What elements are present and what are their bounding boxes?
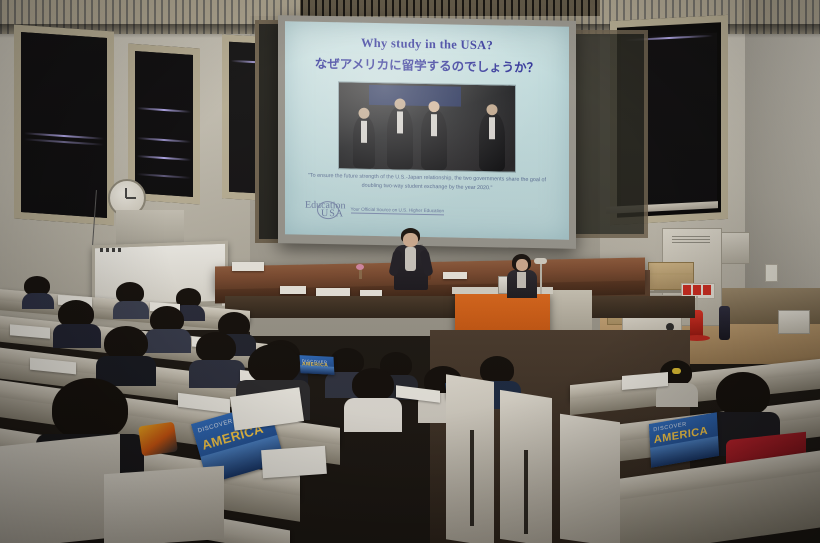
presenter-seated (505, 254, 539, 296)
whiteboard-magnets (100, 248, 124, 252)
logo-brand: Education (305, 200, 346, 212)
slide-title-english: Why study in the USA? (285, 34, 569, 54)
student (116, 282, 146, 312)
student (150, 306, 186, 344)
photo-banner (369, 85, 461, 107)
photo-person-3 (421, 110, 447, 170)
logo-brand-usa: USA (321, 208, 346, 219)
desk-end-panel (560, 414, 620, 543)
student (352, 368, 396, 420)
student (58, 300, 96, 340)
right-wall-corner (745, 0, 820, 330)
presenter-standing (391, 228, 431, 290)
desk-end-panel (0, 434, 120, 543)
photo-person-1 (353, 117, 375, 169)
student (104, 326, 150, 376)
slide-title-japanese: なぜアメリカに留学するのでしょうか？ (285, 52, 569, 76)
photo-person-4 (479, 113, 505, 171)
desk-leg (470, 430, 474, 526)
projection-screen: Why study in the USA? なぜアメリカに留学するのでしょうか？… (278, 15, 576, 249)
student (716, 372, 772, 440)
student (196, 332, 238, 378)
lecture-hall-photo: Why study in the USA? なぜアメリカに留学するのでしょうか？… (0, 0, 820, 543)
student (24, 276, 52, 304)
trash-bin (719, 306, 730, 340)
projected-slide: Why study in the USA? なぜアメリカに留学するのでしょうか？… (285, 21, 569, 239)
paper-stack-2 (280, 286, 306, 294)
window-2 (128, 43, 200, 204)
desk-end-panel (104, 466, 224, 543)
slide-photograph (338, 81, 516, 172)
flower-bloom (356, 264, 364, 270)
wall-paper-holder (778, 310, 810, 334)
logo-wordmark: Education USA (305, 200, 346, 220)
hair-tie (672, 368, 681, 374)
brochure-discover-america: DISCOVER AMERICA (300, 355, 335, 375)
fire-extinguisher-sign-stripes (683, 285, 711, 295)
slide-quote-text: "To ensure the future strength of the U.… (299, 172, 555, 196)
logo-tagline: Your Official Source on U.S. Higher Educ… (351, 207, 444, 216)
logo-ring-icon (317, 201, 339, 219)
photo-person-2 (387, 107, 413, 169)
paper-stack-1 (232, 262, 264, 271)
paper-stack-5 (443, 272, 467, 279)
paper-sheet (261, 446, 327, 478)
education-usa-logo: Education USA Your Official Source on U.… (305, 200, 444, 222)
backpack (138, 422, 178, 457)
desk-leg (524, 450, 528, 534)
window-1 (14, 25, 114, 226)
light-switch (765, 264, 778, 282)
microphone-stand (540, 262, 542, 294)
hvac-grill-icon (672, 236, 710, 245)
